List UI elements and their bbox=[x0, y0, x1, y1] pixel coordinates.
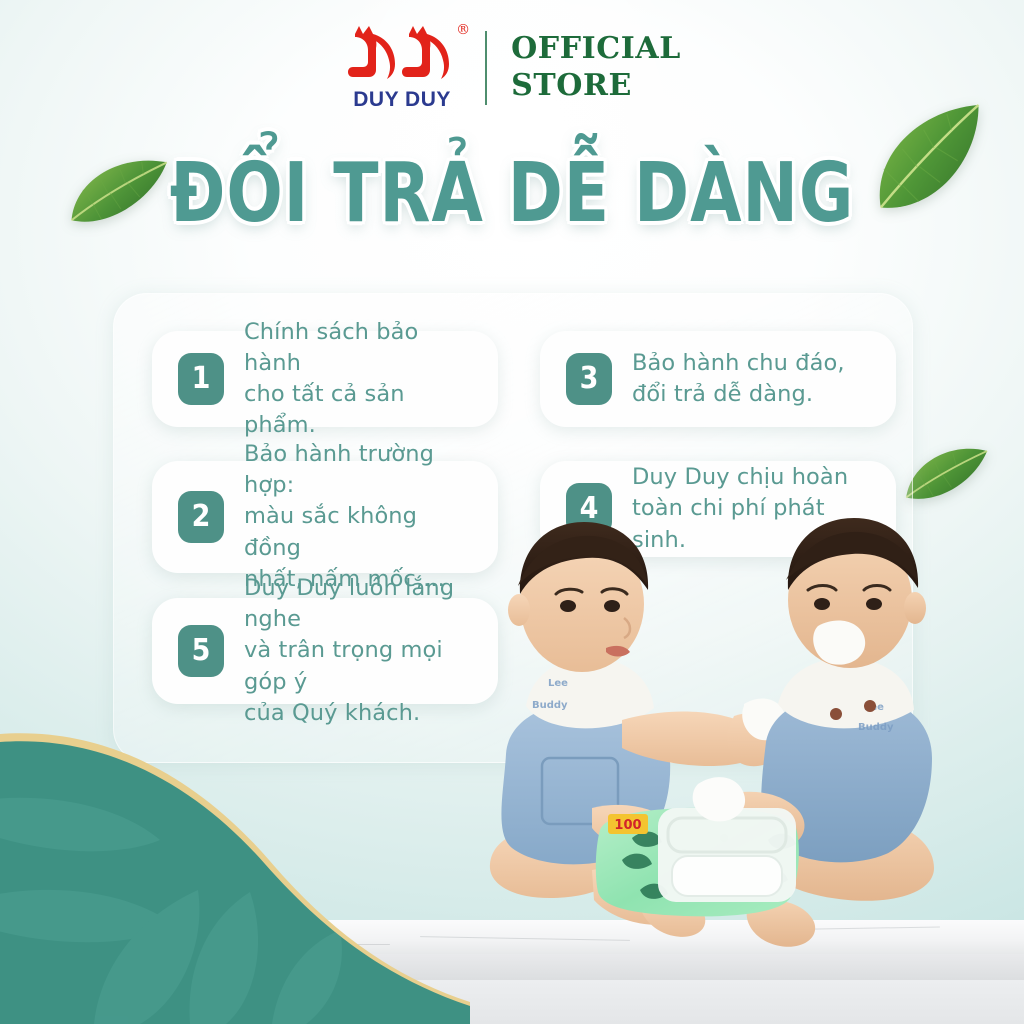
decorative-wave bbox=[0, 694, 470, 1024]
brand-header: ® DUY DUY OFFICIAL STORE bbox=[0, 24, 1024, 112]
two-toddlers-photo: LeeBuddy bbox=[472, 508, 942, 978]
page-title: ĐỔI TRẢ DỄ DÀNG bbox=[51, 146, 973, 241]
feature-card-2[interactable]: 2 Bảo hành trường hợp: màu sắc không đồn… bbox=[152, 461, 498, 573]
registered-mark: ® bbox=[456, 22, 470, 38]
feature-text-1: Chính sách bảo hành cho tất cả sản phẩm. bbox=[244, 317, 472, 441]
brand-logo: ® DUY DUY bbox=[343, 24, 461, 112]
poster-canvas: ® DUY DUY OFFICIAL STORE ĐỔI TRẢ DỄ DÀNG bbox=[0, 0, 1024, 1024]
feature-badge-3: 3 bbox=[566, 353, 612, 405]
official-store-label: OFFICIAL STORE bbox=[511, 31, 681, 104]
two-cats-icon: ® bbox=[343, 24, 461, 86]
feature-badge-2: 2 bbox=[178, 491, 224, 543]
official-store-line2: STORE bbox=[511, 68, 681, 105]
feature-text-3: Bảo hành chu đáo, đổi trả dễ dàng. bbox=[632, 348, 845, 410]
feature-card-3[interactable]: 3 Bảo hành chu đáo, đổi trả dễ dàng. bbox=[540, 331, 896, 427]
official-store-line1: OFFICIAL bbox=[511, 31, 681, 68]
product-count-label: 100 bbox=[614, 818, 641, 833]
feature-card-5[interactable]: 5 Duy Duy luôn lắng nghe và trân trọng m… bbox=[152, 598, 498, 704]
svg-text:Lee: Lee bbox=[548, 678, 568, 689]
svg-text:Buddy: Buddy bbox=[858, 722, 894, 733]
logo-divider bbox=[485, 31, 487, 105]
feature-badge-1: 1 bbox=[178, 353, 224, 405]
feature-card-1[interactable]: 1 Chính sách bảo hành cho tất cả sản phẩ… bbox=[152, 331, 498, 427]
brand-name: DUY DUY bbox=[353, 88, 451, 112]
feature-text-2: Bảo hành trường hợp: màu sắc không đồng … bbox=[244, 439, 472, 594]
feature-badge-5: 5 bbox=[178, 625, 224, 677]
svg-text:Buddy: Buddy bbox=[532, 700, 568, 711]
